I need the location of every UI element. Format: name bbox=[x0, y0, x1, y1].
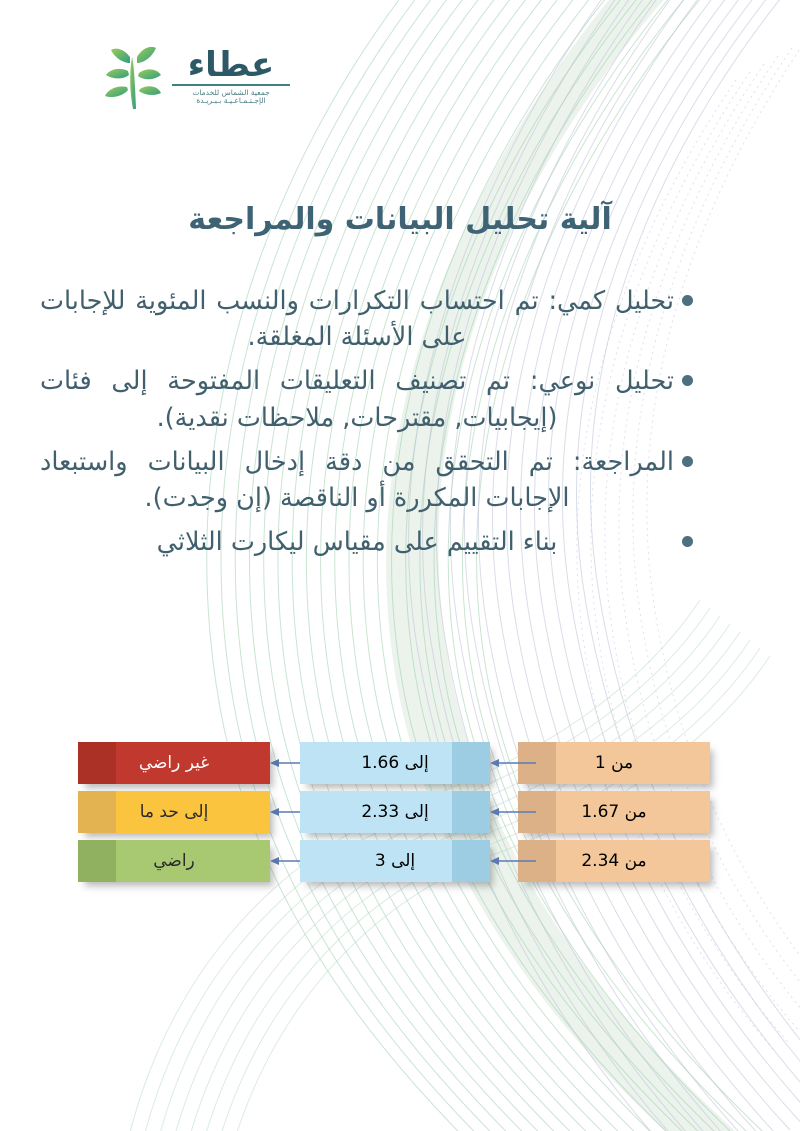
bullet-dot-icon bbox=[674, 363, 700, 386]
likert-result-label: غير راضي bbox=[131, 753, 217, 773]
document-page: عطاء جمعية الشماس للخدمات الإجـتـمـاعـيـ… bbox=[0, 0, 800, 1131]
list-item-text: المراجعة: تم التحقق من دقة إدخال البيانا… bbox=[40, 444, 674, 516]
likert-from-label: من 1 bbox=[587, 753, 641, 773]
box-accent-cap bbox=[452, 742, 490, 784]
logo-divider bbox=[172, 84, 290, 86]
bullet-list: تحليل كمي: تم احتساب التكرارات والنسب ال… bbox=[40, 283, 700, 568]
box-accent-cap bbox=[452, 791, 490, 833]
likert-result-box: إلى حد ما bbox=[78, 791, 270, 833]
box-accent-cap bbox=[78, 791, 116, 833]
arrow-left-icon bbox=[490, 756, 536, 770]
likert-from-box: من 2.34 bbox=[518, 840, 710, 882]
likert-from-box: من 1 bbox=[518, 742, 710, 784]
likert-result-box: غير راضي bbox=[78, 742, 270, 784]
list-item-text: بناء التقييم على مقياس ليكارت الثلاثي bbox=[40, 524, 674, 560]
organization-logo: عطاء جمعية الشماس للخدمات الإجـتـمـاعـيـ… bbox=[30, 36, 290, 116]
likert-result-label: راضي bbox=[145, 851, 203, 871]
arrow-left-icon bbox=[490, 805, 536, 819]
likert-to-box: إلى 2.33 bbox=[300, 791, 490, 833]
likert-to-label: إلى 3 bbox=[367, 851, 423, 871]
likert-to-label: إلى 2.33 bbox=[353, 802, 436, 822]
arrow-left-icon bbox=[490, 854, 536, 868]
page-title: آلية تحليل البيانات والمراجعة bbox=[0, 202, 800, 237]
likert-row-satisfied: من 2.34 إلى 3 راضي bbox=[0, 840, 800, 882]
likert-from-label: من 1.67 bbox=[573, 802, 654, 822]
logo-text: عطاء جمعية الشماس للخدمات الإجـتـمـاعـيـ… bbox=[172, 48, 290, 104]
likert-scale-diagram: من 1 إلى 1.66 غير راضي من 1 bbox=[0, 742, 800, 892]
plant-leaves-icon bbox=[100, 41, 166, 111]
likert-to-box: إلى 1.66 bbox=[300, 742, 490, 784]
box-accent-cap bbox=[78, 840, 116, 882]
likert-to-label: إلى 1.66 bbox=[353, 753, 436, 773]
box-accent-cap bbox=[452, 840, 490, 882]
list-item-quantitative-analysis: تحليل كمي: تم احتساب التكرارات والنسب ال… bbox=[40, 283, 700, 355]
likert-row-somewhat: من 1.67 إلى 2.33 إلى حد ما bbox=[0, 791, 800, 833]
likert-to-box: إلى 3 bbox=[300, 840, 490, 882]
bullet-dot-icon bbox=[674, 524, 700, 547]
likert-result-box: راضي bbox=[78, 840, 270, 882]
list-item-review: المراجعة: تم التحقق من دقة إدخال البيانا… bbox=[40, 444, 700, 516]
likert-result-label: إلى حد ما bbox=[132, 802, 217, 822]
box-accent-cap bbox=[78, 742, 116, 784]
list-item-text: تحليل نوعي: تم تصنيف التعليقات المفتوحة … bbox=[40, 363, 674, 435]
list-item-likert-scale: بناء التقييم على مقياس ليكارت الثلاثي bbox=[40, 524, 700, 560]
bullet-dot-icon bbox=[674, 283, 700, 306]
list-item-qualitative-analysis: تحليل نوعي: تم تصنيف التعليقات المفتوحة … bbox=[40, 363, 700, 435]
logo-subtitle-line-2: الإجـتـمـاعـيـة بـبـريـدة bbox=[196, 97, 265, 105]
likert-row-unsatisfied: من 1 إلى 1.66 غير راضي bbox=[0, 742, 800, 784]
list-item-text: تحليل كمي: تم احتساب التكرارات والنسب ال… bbox=[40, 283, 674, 355]
bullet-dot-icon bbox=[674, 444, 700, 467]
likert-from-box: من 1.67 bbox=[518, 791, 710, 833]
likert-from-label: من 2.34 bbox=[573, 851, 654, 871]
logo-wordmark: عطاء bbox=[188, 48, 275, 82]
